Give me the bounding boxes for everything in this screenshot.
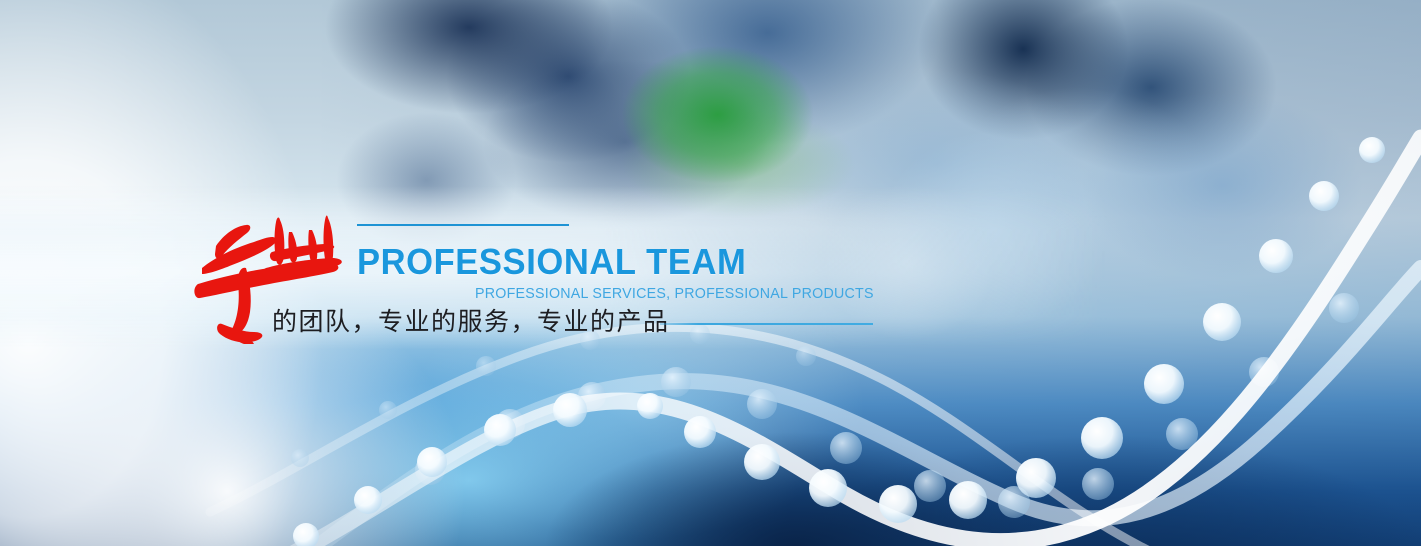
chinese-tagline: 的团队，专业的服务，专业的产品 [272, 306, 670, 338]
banner-copy-block: PROFESSIONAL TEAM PROFESSIONAL SERVICES,… [0, 0, 1421, 546]
headline-professional-team: PROFESSIONAL TEAM [357, 243, 746, 281]
hero-banner: PROFESSIONAL TEAM PROFESSIONAL SERVICES,… [0, 0, 1421, 546]
tagline-bottom-rule [660, 323, 873, 325]
subheadline-services-products: PROFESSIONAL SERVICES, PROFESSIONAL PROD… [475, 285, 874, 303]
headline-top-rule [357, 224, 569, 226]
